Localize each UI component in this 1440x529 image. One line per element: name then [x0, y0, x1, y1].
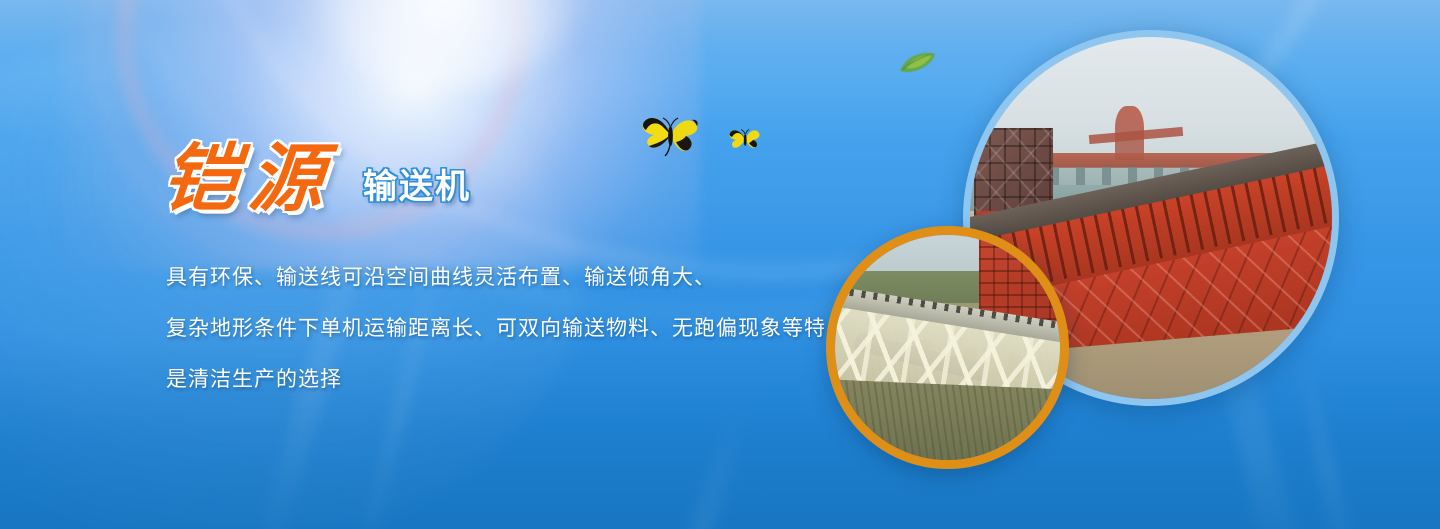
brand-name: 铠源: [160, 142, 345, 220]
sun-glare: [60, 0, 700, 270]
sun-core: [300, 0, 590, 90]
hero-banner: 铠源 输送机 具有环保、输送线可沿空间曲线灵活布置、输送倾角大、 复杂地形条件下…: [0, 0, 1440, 529]
truss-conveyor-photo: [826, 226, 1069, 469]
headline-group: 铠源 输送机: [163, 142, 471, 220]
butterfly-large-icon: [640, 110, 702, 158]
product-name: 输送机: [363, 159, 471, 208]
butterfly-small-icon: [728, 126, 762, 152]
light-streak: [650, 403, 751, 529]
leaf-icon: [897, 51, 937, 75]
